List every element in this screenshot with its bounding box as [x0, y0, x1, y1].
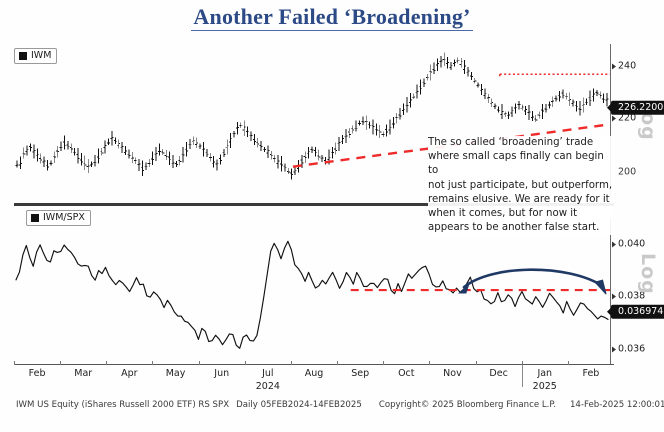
footer-timestamp: 14-Feb-2025 12:00:01 — [570, 400, 664, 410]
x-axis-tick-mark — [14, 361, 15, 365]
axis-tick-label: 0.036 — [618, 344, 645, 355]
x-axis-year-2024: 2024 — [256, 381, 280, 392]
legend-swatch-icon — [19, 52, 27, 60]
x-axis-label-oct-8: Oct — [398, 368, 414, 379]
x-axis-label-nov-9: Nov — [443, 368, 462, 379]
bloomberg-chart-root: Another Failed ‘Broadening’ IWM IWM/SPX … — [0, 0, 664, 432]
axis-tick-upper-2: 200 — [611, 167, 636, 178]
x-axis-label-dec-10: Dec — [489, 368, 507, 379]
x-axis-tick-mark — [106, 361, 107, 365]
x-axis-line — [14, 364, 614, 365]
annotation-line-1: The so called ‘broadening’ trade — [428, 136, 614, 150]
x-axis-tick-mark — [245, 361, 246, 365]
x-axis-tick-mark — [337, 361, 338, 365]
footer-period: Daily 05FEB2024-14FEB2025 — [236, 400, 362, 410]
x-axis-label-apr-2: Apr — [121, 368, 137, 379]
upper-last-price-tag: 226.2200 — [611, 101, 664, 115]
x-axis-label-sep-7: Sep — [351, 368, 369, 379]
title-container: Another Failed ‘Broadening’ — [0, 4, 664, 31]
chart-footer: IWM US Equity (iShares Russell 2000 ETF)… — [16, 400, 656, 410]
tick-arrow-icon — [612, 63, 616, 69]
x-axis-tick-mark — [476, 361, 477, 365]
lower-panel-plot — [14, 218, 610, 364]
x-axis-tick-mark — [152, 361, 153, 365]
x-axis-label-aug-6: Aug — [305, 368, 324, 379]
x-axis-year-2025: 2025 — [533, 381, 557, 392]
annotation-line-5: when it comes, but for now it — [428, 207, 614, 221]
legend-lower[interactable]: IWM/SPX — [26, 210, 91, 226]
legend-upper-label: IWM — [31, 51, 51, 61]
upper-price-axis[interactable]: 240 220 200 Log 226.2200 — [610, 44, 664, 196]
x-axis-label-feb-12: Feb — [583, 368, 600, 379]
chart-annotation-text: The so called ‘broadening’ trade where s… — [428, 136, 614, 235]
axis-tick-lower-2: 0.036 — [611, 344, 645, 355]
log-scale-watermark-lower: Log — [637, 253, 659, 295]
x-axis-label-may-3: May — [166, 368, 186, 379]
x-axis-label-feb-0: Feb — [29, 368, 46, 379]
x-axis-label-jan-11: Jan — [537, 368, 552, 379]
tick-arrow-icon — [612, 115, 616, 121]
annotation-line-4: remains elusive. We are ready for it — [428, 193, 614, 207]
x-axis-tick-mark — [429, 361, 430, 365]
axis-tick-upper-0: 240 — [611, 61, 636, 72]
x-axis-label-jun-4: Jun — [214, 368, 229, 379]
x-axis-tick-mark — [291, 361, 292, 365]
tick-arrow-icon — [612, 293, 616, 299]
lower-ratio-axis[interactable]: 0.040 0.038 0.036 Log 0.036974 — [610, 218, 664, 364]
legend-upper[interactable]: IWM — [14, 48, 57, 64]
x-axis-tick-mark — [60, 361, 61, 365]
legend-swatch-icon — [31, 214, 39, 222]
page-title: Another Failed ‘Broadening’ — [191, 4, 472, 31]
x-axis[interactable]: FebMarAprMayJunJulAugSepOctNovDecJanFeb2… — [14, 364, 614, 398]
lower-last-value-tag: 0.036974 — [611, 305, 664, 319]
lower-ratio-panel[interactable] — [14, 218, 610, 364]
annotation-line-6: appears to be another false start. — [428, 221, 614, 235]
axis-tick-label: 240 — [618, 61, 636, 72]
annotation-line-2: where small caps finally can begin to — [428, 150, 614, 178]
annotation-line-3: not just participate, but outperform, — [428, 179, 614, 193]
tick-arrow-icon — [612, 346, 616, 352]
year-boundary-divider — [522, 365, 523, 387]
axis-tick-lower-0: 0.040 — [611, 239, 645, 250]
x-axis-label-mar-1: Mar — [74, 368, 92, 379]
x-axis-tick-mark — [383, 361, 384, 365]
x-axis-tick-mark — [568, 361, 569, 365]
axis-tick-label: 200 — [618, 167, 636, 178]
x-axis-label-jul-5: Jul — [262, 368, 273, 379]
x-axis-tick-mark — [199, 361, 200, 365]
tick-arrow-icon — [612, 241, 616, 247]
footer-security: IWM US Equity (iShares Russell 2000 ETF)… — [16, 400, 229, 410]
legend-lower-label: IWM/SPX — [43, 213, 85, 223]
footer-copyright: Copyright© 2025 Bloomberg Finance L.P. — [379, 400, 556, 410]
axis-tick-label: 0.040 — [618, 239, 645, 250]
